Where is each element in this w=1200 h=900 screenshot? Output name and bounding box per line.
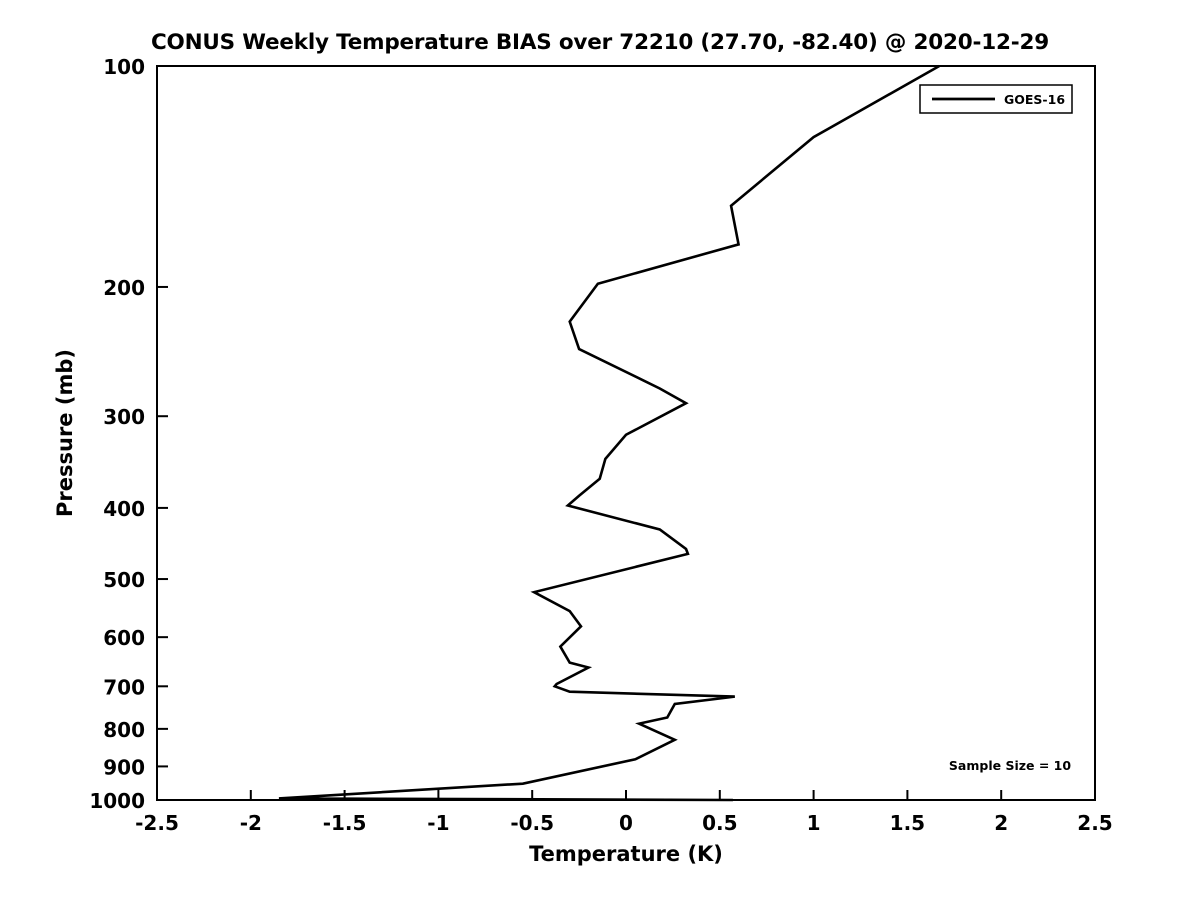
chart-page: CONUS Weekly Temperature BIAS over 72210… xyxy=(0,0,1200,900)
y-tick-label: 500 xyxy=(103,568,145,592)
x-tick-label: 1.5 xyxy=(890,811,925,835)
x-tick-label: -1 xyxy=(427,811,449,835)
x-tick-label: -2 xyxy=(240,811,262,835)
sample-size-annotation: Sample Size = 10 xyxy=(949,758,1071,773)
y-tick-label: 800 xyxy=(103,718,145,742)
x-tick-label: -0.5 xyxy=(510,811,554,835)
x-tick-label: 1 xyxy=(807,811,821,835)
x-tick-label: -2.5 xyxy=(135,811,179,835)
x-axis-tick-labels: -2.5-2-1.5-1-0.500.511.522.5 xyxy=(135,811,1113,835)
x-tick-label: 0 xyxy=(619,811,633,835)
x-tick-label: -1.5 xyxy=(323,811,367,835)
y-tick-label: 400 xyxy=(103,497,145,521)
y-tick-label: 1000 xyxy=(89,789,145,813)
y-axis-tick-labels: 1002003004005006007008009001000 xyxy=(89,55,145,813)
plot-frame xyxy=(157,66,1095,800)
x-tick-label: 0.5 xyxy=(702,811,737,835)
y-axis-label: Pressure (mb) xyxy=(53,349,77,517)
legend[interactable]: GOES-16 xyxy=(920,85,1072,113)
data-series-group xyxy=(279,66,939,800)
y-axis-ticks xyxy=(157,66,168,800)
chart-canvas: -2.5-2-1.5-1-0.500.511.522.5 10020030040… xyxy=(0,0,1200,900)
y-tick-label: 700 xyxy=(103,675,145,699)
y-tick-label: 600 xyxy=(103,626,145,650)
y-tick-label: 900 xyxy=(103,755,145,779)
x-tick-label: 2.5 xyxy=(1077,811,1112,835)
x-axis-label: Temperature (K) xyxy=(529,842,723,866)
y-tick-label: 100 xyxy=(103,55,145,79)
x-tick-label: 2 xyxy=(994,811,1008,835)
y-tick-label: 300 xyxy=(103,405,145,429)
legend-entry-label: GOES-16 xyxy=(1004,92,1065,107)
y-tick-label: 200 xyxy=(103,276,145,300)
series-line-goes-16 xyxy=(279,66,939,800)
